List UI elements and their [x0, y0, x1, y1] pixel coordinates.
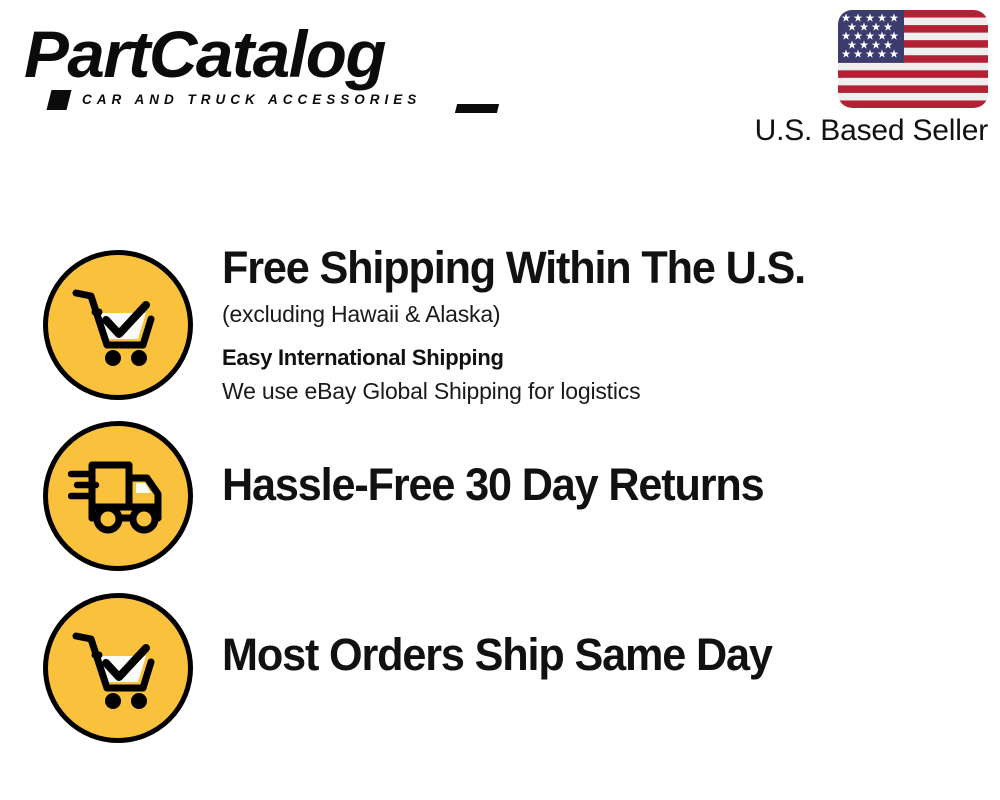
brand-wordmark: PartCatalog	[24, 18, 503, 90]
benefit-row: Most Orders Ship Same Day	[0, 580, 1000, 756]
benefit-row: Hassle-Free 30 Day Returns	[0, 408, 1000, 584]
benefit-icon-free-shipping	[43, 250, 193, 400]
delivery-truck-icon	[68, 456, 168, 536]
benefit-icon-same-day	[43, 593, 193, 743]
benefit-row: Free Shipping Within The U.S. (excluding…	[0, 237, 1000, 413]
benefit-icon-returns	[43, 421, 193, 571]
page-header: PartCatalog CAR AND TRUCK ACCESSORIES	[0, 0, 1000, 180]
benefit-headline: Free Shipping Within The U.S.	[222, 241, 950, 295]
benefit-subtext: (excluding Hawaii & Alaska)	[222, 297, 980, 331]
shopping-cart-check-icon	[70, 625, 166, 711]
benefit-subtext-bold: Easy International Shipping	[222, 341, 980, 375]
benefit-subtext-plain: We use eBay Global Shipping for logistic…	[222, 375, 980, 408]
icon-circle	[43, 250, 193, 400]
brand-logo[interactable]: PartCatalog CAR AND TRUCK ACCESSORIES	[24, 18, 494, 113]
benefit-headline: Hassle-Free 30 Day Returns	[222, 458, 950, 512]
benefit-text-block: Most Orders Ship Same Day	[222, 628, 980, 682]
logo-slab-left-decoration	[47, 90, 72, 110]
benefit-text-block: Free Shipping Within The U.S. (excluding…	[222, 241, 980, 408]
shopping-cart-check-icon	[70, 282, 166, 368]
benefits-list: Free Shipping Within The U.S. (excluding…	[0, 180, 1000, 800]
brand-tagline: CAR AND TRUCK ACCESSORIES	[82, 92, 421, 107]
benefit-headline: Most Orders Ship Same Day	[222, 628, 950, 682]
icon-circle	[43, 593, 193, 743]
us-flag-icon	[838, 10, 988, 108]
seller-badge-label: U.S. Based Seller	[724, 112, 988, 150]
icon-circle	[43, 421, 193, 571]
benefit-text-block: Hassle-Free 30 Day Returns	[222, 458, 980, 512]
seller-badge: U.S. Based Seller	[724, 10, 988, 150]
logo-slab-right-decoration	[455, 104, 499, 113]
